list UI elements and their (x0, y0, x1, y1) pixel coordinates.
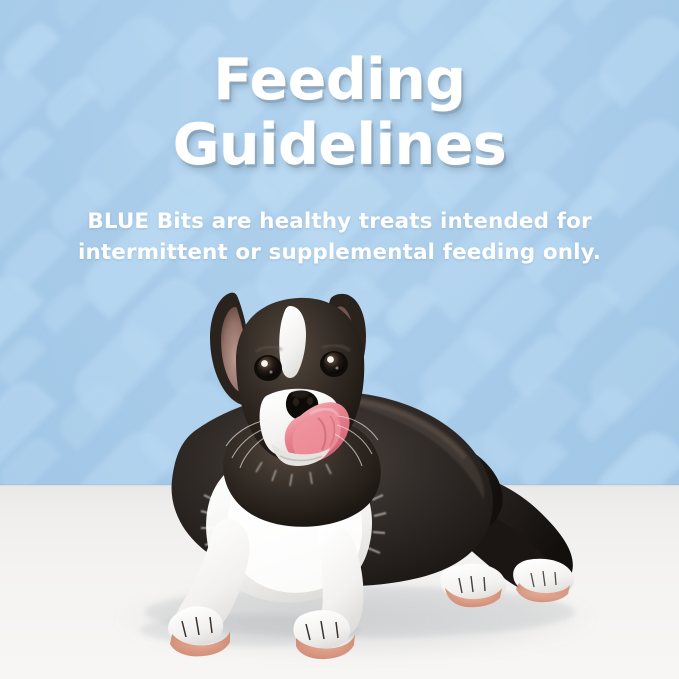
title-line-2: Guidelines (0, 113, 679, 178)
feeding-guidelines-panel: Feeding Guidelines BLUE Bits are healthy… (0, 0, 679, 679)
feeding-description: BLUE Bits are healthy treats intended fo… (0, 206, 679, 268)
description-line-1: BLUE Bits are healthy treats intended fo… (0, 206, 679, 237)
title-line-1: Feeding (0, 48, 679, 113)
page-title: Feeding Guidelines (0, 48, 679, 178)
description-line-2: intermittent or supplemental feeding onl… (0, 237, 679, 268)
